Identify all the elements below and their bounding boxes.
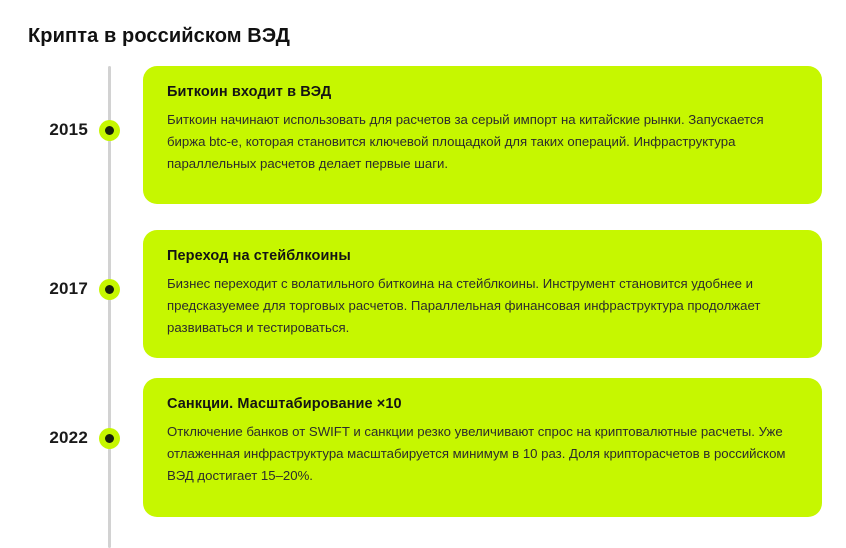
timeline-entry: 2022 Санкции. Масштабирование ×10 Отключ…	[0, 378, 846, 517]
timeline-dot-marker-icon	[99, 428, 120, 449]
timeline-dot-marker-icon	[99, 120, 120, 141]
timeline-year-label: 2022	[0, 428, 88, 448]
timeline: 2015 Биткоин входит в ВЭД Биткоин начина…	[0, 0, 846, 548]
timeline-card-title: Санкции. Масштабирование ×10	[167, 396, 798, 412]
timeline-card[interactable]: Биткоин входит в ВЭД Биткоин начинают ис…	[143, 66, 822, 204]
timeline-card[interactable]: Санкции. Масштабирование ×10 Отключение …	[143, 378, 822, 517]
timeline-card[interactable]: Переход на стейблкоины Бизнес переходит …	[143, 230, 822, 358]
timeline-year-label: 2017	[0, 279, 88, 299]
timeline-card-body: Отключение банков от SWIFT и санкции рез…	[167, 421, 792, 487]
timeline-card-body: Биткоин начинают использовать для расчет…	[167, 109, 792, 175]
timeline-card-title: Переход на стейблкоины	[167, 248, 798, 264]
timeline-card-body: Бизнес переходит с волатильного биткоина…	[167, 273, 792, 339]
timeline-entry: 2017 Переход на стейблкоины Бизнес перех…	[0, 230, 846, 358]
timeline-year-label: 2015	[0, 120, 88, 140]
timeline-card-title: Биткоин входит в ВЭД	[167, 84, 798, 100]
timeline-dot-marker-icon	[99, 279, 120, 300]
timeline-entry: 2015 Биткоин входит в ВЭД Биткоин начина…	[0, 66, 846, 204]
